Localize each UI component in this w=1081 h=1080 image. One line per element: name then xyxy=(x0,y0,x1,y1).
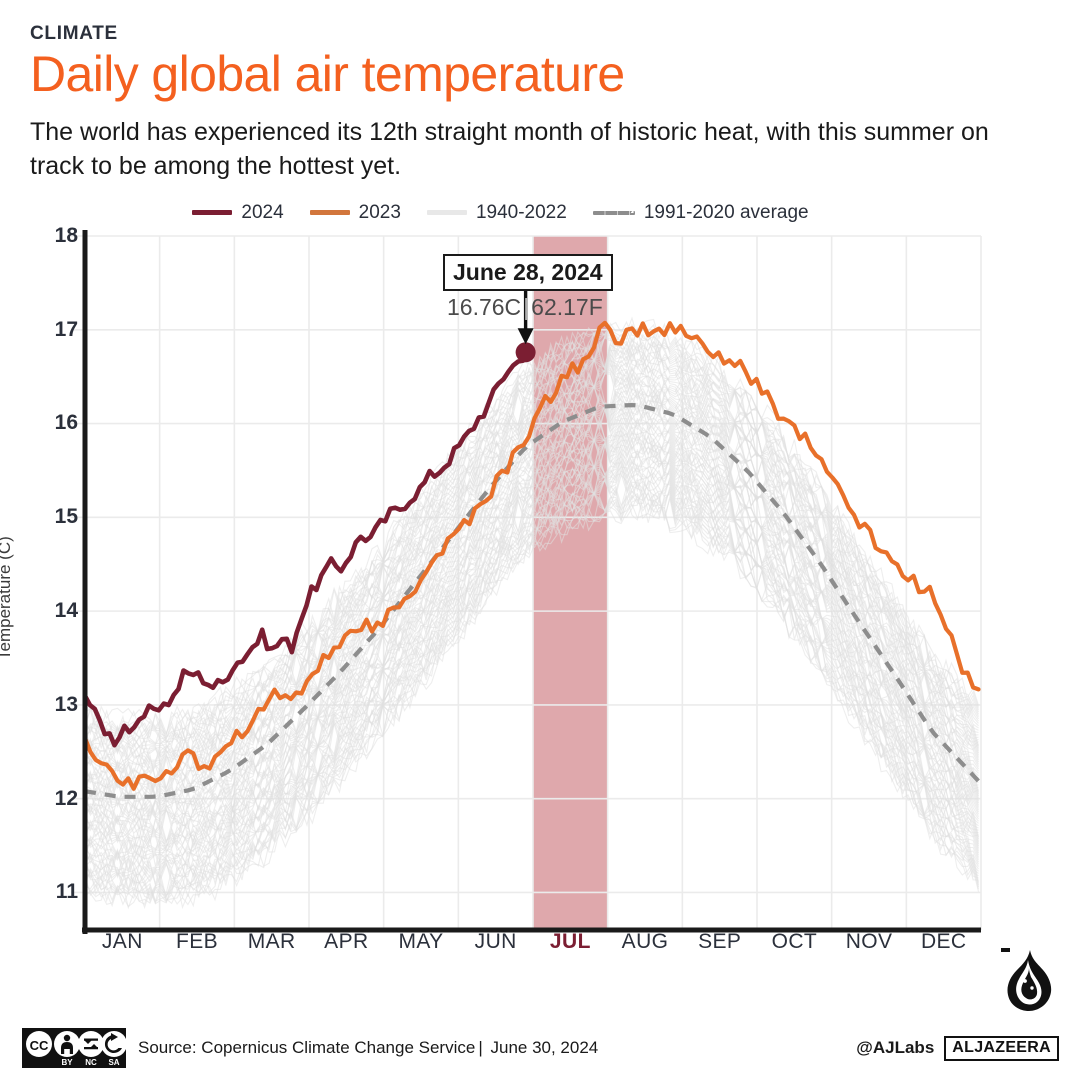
annotation-divider: | xyxy=(521,294,531,320)
license-label-sa: SA xyxy=(108,1058,119,1067)
y-axis-tick-17: 17 xyxy=(12,318,78,342)
x-axis-label-dec: DEC xyxy=(906,930,981,954)
legend-label-historical: 1940-2022 xyxy=(476,202,567,224)
standfirst-text: The world has experienced its 12th strai… xyxy=(30,115,1015,184)
x-axis-label-sep: SEP xyxy=(682,930,757,954)
legend-swatch-2024 xyxy=(192,210,232,215)
social-handle[interactable]: @AJLabs xyxy=(856,1038,934,1058)
creative-commons-license-badge[interactable]: CC BY NC SA xyxy=(22,1028,126,1068)
data-point-marker xyxy=(516,342,536,362)
legend-item-2023[interactable]: 2023 xyxy=(310,202,401,224)
license-label-by: BY xyxy=(61,1058,73,1067)
x-axis-label-may: MAY xyxy=(384,930,459,954)
header: CLIMATE Daily global air temperature The… xyxy=(0,0,1081,184)
legend-swatch-2023 xyxy=(310,210,350,215)
y-axis-title: Temperature (C) xyxy=(0,536,15,660)
annotation-values: 16.76C|62.17F xyxy=(443,294,613,321)
license-label-nc: NC xyxy=(85,1058,97,1067)
legend-swatch-average xyxy=(593,211,635,215)
chart-plot[interactable] xyxy=(0,230,1081,990)
annotation-title: June 28, 2024 xyxy=(443,254,613,291)
legend-label-2024: 2024 xyxy=(241,202,283,224)
legend-item-historical[interactable]: 1940-2022 xyxy=(427,202,567,224)
y-axis-tick-18: 18 xyxy=(12,224,78,248)
x-axis-label-nov: NOV xyxy=(832,930,907,954)
annotation-celsius: 16.76C xyxy=(447,294,521,320)
y-axis-tick-14: 14 xyxy=(12,599,78,623)
x-axis-label-mar: MAR xyxy=(234,930,309,954)
y-axis-tick-11: 11 xyxy=(12,880,78,904)
kicker-label: CLIMATE xyxy=(30,24,1051,45)
y-axis-tick-16: 16 xyxy=(12,411,78,435)
x-axis-label-aug: AUG xyxy=(608,930,683,954)
chart-container: 1112131415161718 Temperature (C) JANFEBM… xyxy=(0,230,1081,990)
y-axis-tick-15: 15 xyxy=(12,505,78,529)
x-axis-label-oct: OCT xyxy=(757,930,832,954)
svg-text:CC: CC xyxy=(30,1038,49,1053)
al-jazeera-flame-logo xyxy=(1001,948,1059,1014)
x-axis-labels: JANFEBMARAPRMAYJUNJULAUGSEPOCTNOVDEC xyxy=(85,930,981,954)
x-axis-label-feb: FEB xyxy=(160,930,235,954)
legend-label-average: 1991-2020 average xyxy=(644,202,809,224)
legend-label-2023: 2023 xyxy=(359,202,401,224)
y-axis-tick-12: 12 xyxy=(12,787,78,811)
legend-swatch-historical xyxy=(427,210,467,215)
footer: CC BY NC SA Source: Copernicus Climate C… xyxy=(0,1016,1081,1080)
publish-date: June 30, 2024 xyxy=(490,1038,598,1057)
legend-item-2024[interactable]: 2024 xyxy=(192,202,283,224)
historical-band-1940-2022 xyxy=(85,318,979,908)
annotation-fahrenheit: 62.17F xyxy=(531,294,603,320)
chart-legend: 2024 2023 1940-2022 1991-2020 average xyxy=(0,202,1081,224)
aljazeera-wordmark: ALJAZEERA xyxy=(944,1036,1059,1061)
x-axis-label-jan: JAN xyxy=(85,930,160,954)
legend-item-average[interactable]: 1991-2020 average xyxy=(593,202,809,224)
y-axis-tick-13: 13 xyxy=(12,693,78,717)
x-axis-label-apr: APR xyxy=(309,930,384,954)
footer-branding: @AJLabs ALJAZEERA xyxy=(856,1036,1059,1061)
source-separator: | xyxy=(475,1038,485,1057)
source-credit: Source: Copernicus Climate Change Servic… xyxy=(138,1038,598,1058)
x-axis-label-jun: JUN xyxy=(458,930,533,954)
source-label: Source: Copernicus Climate Change Servic… xyxy=(138,1038,475,1057)
x-axis-label-jul: JUL xyxy=(533,930,608,954)
page-title: Daily global air temperature xyxy=(30,47,1051,101)
annotation-callout: June 28, 2024 16.76C|62.17F xyxy=(443,254,613,321)
